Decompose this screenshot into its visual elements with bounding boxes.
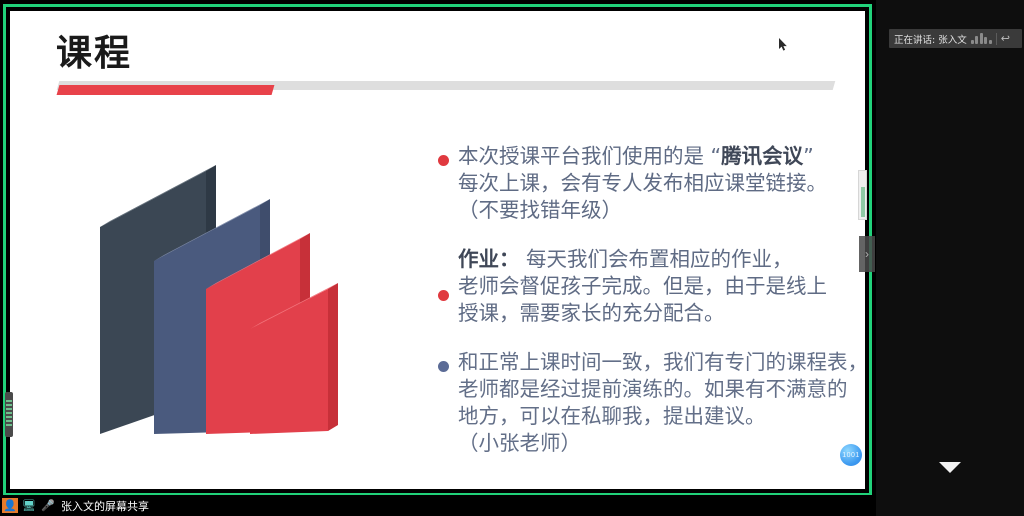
microphone-icon: 🎤 — [40, 498, 56, 513]
back-arrow-icon[interactable]: ↩ — [1001, 32, 1010, 45]
monitor-icon: 🖥 — [21, 498, 37, 513]
highlight-tencent-meeting: 腾讯会议 — [721, 144, 803, 168]
chevron-down-icon[interactable] — [939, 462, 961, 473]
bullet-line-2-lead: 作业： 每天我们会布置相应的作业， 老师会督促孩子完成。但是，由于是线上 授课，… — [458, 246, 865, 327]
speaking-status-text: 正在讲话: 张入文 — [894, 32, 967, 46]
bullet-block-2: 作业： 每天我们会布置相应的作业， 老师会督促孩子完成。但是，由于是线上 授课，… — [434, 246, 865, 327]
watermark-badge: 1001 — [840, 444, 862, 466]
panel-collapse-button[interactable]: › — [859, 236, 875, 272]
bullet-dot-blue — [438, 361, 449, 372]
mouse-cursor — [779, 38, 788, 51]
taskbar-label: 张入文的屏幕共享 — [61, 498, 149, 514]
bullet-line-1a: 本次授课平台我们使用的是 “腾讯会议” — [458, 143, 865, 170]
presentation-slide: 课程 — [10, 11, 865, 489]
participants-sidebar: 正在讲话: 张入文 ↩ 入文 👤 🖥 🎤 张入文的屏幕共享 🎤 敖扬 — [876, 0, 1024, 516]
isometric-panels-graphic — [88, 139, 353, 434]
bottom-taskbar: 👤 🖥 🎤 张入文的屏幕共享 — [0, 495, 876, 516]
slide-bullets: 本次授课平台我们使用的是 “腾讯会议” 每次上课，会有专人发布相应课堂链接。 （… — [434, 143, 865, 473]
bullet-dot-red — [438, 155, 449, 166]
bullet-block-1: 本次授课平台我们使用的是 “腾讯会议” 每次上课，会有专人发布相应课堂链接。 （… — [434, 143, 865, 224]
bullet-line-1b: 每次上课，会有专人发布相应课堂链接。 （不要找错年级） — [458, 170, 865, 224]
divider — [996, 33, 997, 45]
slide-title: 课程 — [56, 33, 132, 73]
title-underline-red — [57, 85, 275, 95]
left-scrollbar-handle[interactable] — [5, 392, 13, 437]
bullet-dot-red-2 — [438, 290, 449, 301]
meeting-screen: 课程 — [0, 0, 1024, 516]
bullet-line-3: 和正常上课时间一致，我们有专门的课程表， 老师都是经过提前演练的。如果有不满意的… — [458, 349, 865, 457]
speaking-status-bar: 正在讲话: 张入文 ↩ — [889, 29, 1022, 48]
bullet-block-3: 和正常上课时间一致，我们有专门的课程表， 老师都是经过提前演练的。如果有不满意的… — [434, 349, 865, 457]
audio-wave-icon — [971, 33, 992, 44]
shared-screen-region: 课程 — [0, 0, 876, 516]
person-icon: 👤 — [2, 498, 18, 513]
slide-scrollbar[interactable] — [858, 170, 867, 220]
